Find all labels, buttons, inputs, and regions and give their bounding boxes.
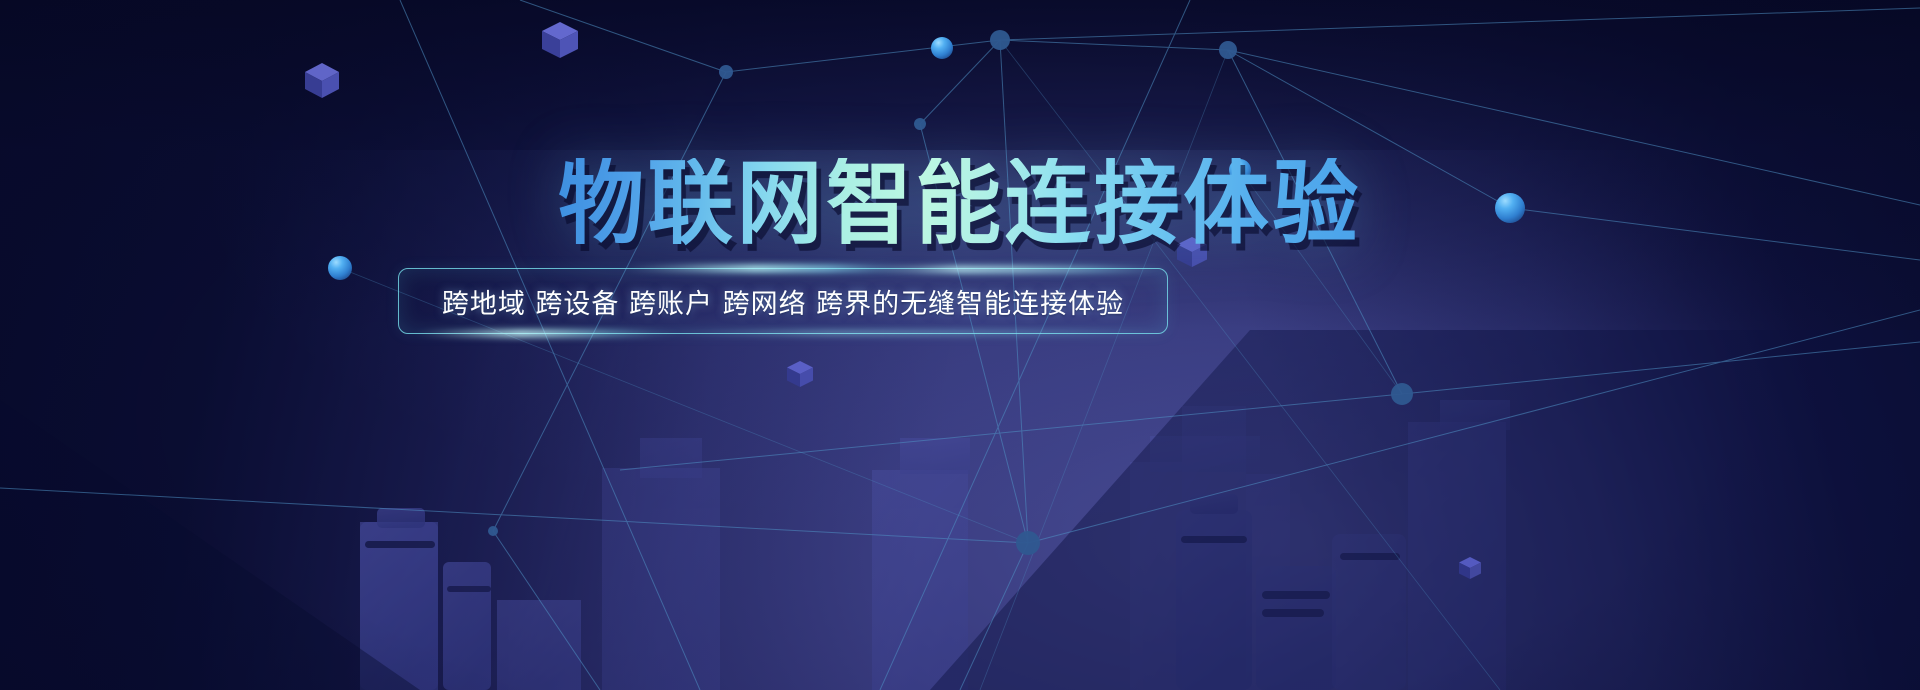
decor-cubes bbox=[0, 0, 1920, 690]
cube-center-low bbox=[787, 361, 813, 387]
banner-root: 物联网智能连接体验 跨地域 跨设备 跨账户 跨网络 跨界的无缝智能连接体验 bbox=[0, 0, 1920, 690]
subtitle-box: 跨地域 跨设备 跨账户 跨网络 跨界的无缝智能连接体验 bbox=[398, 268, 1168, 334]
banner-title-wrap: 物联网智能连接体验 bbox=[0, 158, 1920, 250]
cube-upper-mid bbox=[542, 22, 578, 58]
cube-right-low bbox=[1459, 557, 1481, 579]
subtitle-text: 跨地域 跨设备 跨账户 跨网络 跨界的无缝智能连接体验 bbox=[442, 282, 1124, 321]
banner-title: 物联网智能连接体验 bbox=[558, 158, 1362, 250]
cube-upper-left bbox=[305, 63, 339, 98]
